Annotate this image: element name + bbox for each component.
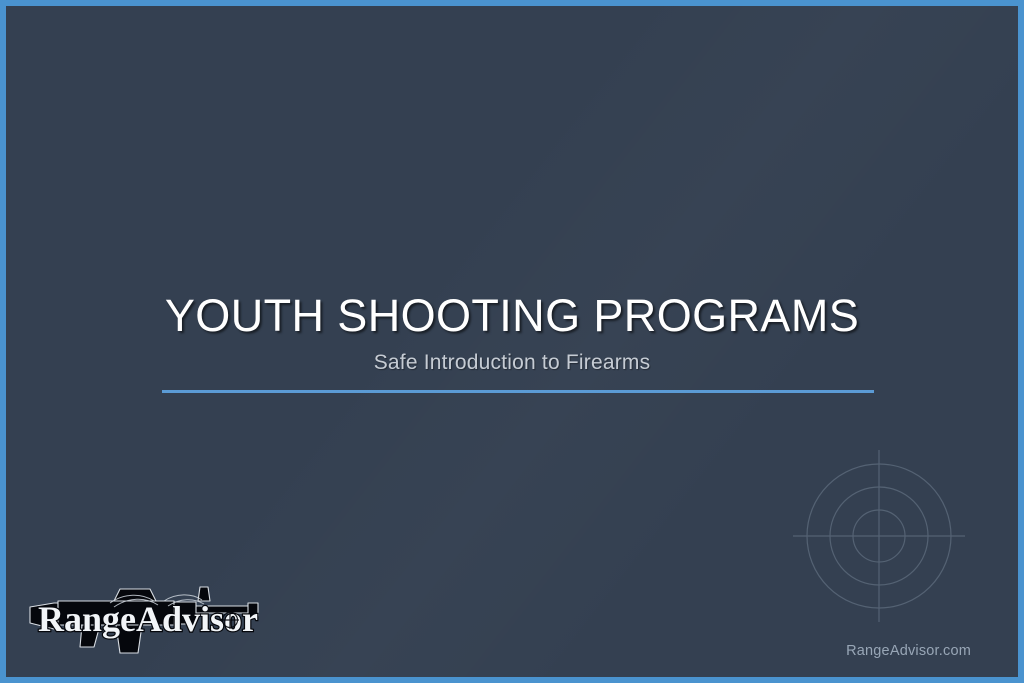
title-divider [162,390,874,393]
page-title: YOUTH SHOOTING PROGRAMS [6,292,1018,339]
brand-logo-text: RangeAdvisor [38,599,258,639]
presentation-slide: YOUTH SHOOTING PROGRAMS Safe Introductio… [0,0,1024,683]
footer-url: RangeAdvisor.com [846,643,971,659]
brand-logo: RangeAdvisor [24,573,274,659]
page-subtitle: Safe Introduction to Firearms [6,351,1018,375]
title-block: YOUTH SHOOTING PROGRAMS Safe Introductio… [6,292,1018,375]
